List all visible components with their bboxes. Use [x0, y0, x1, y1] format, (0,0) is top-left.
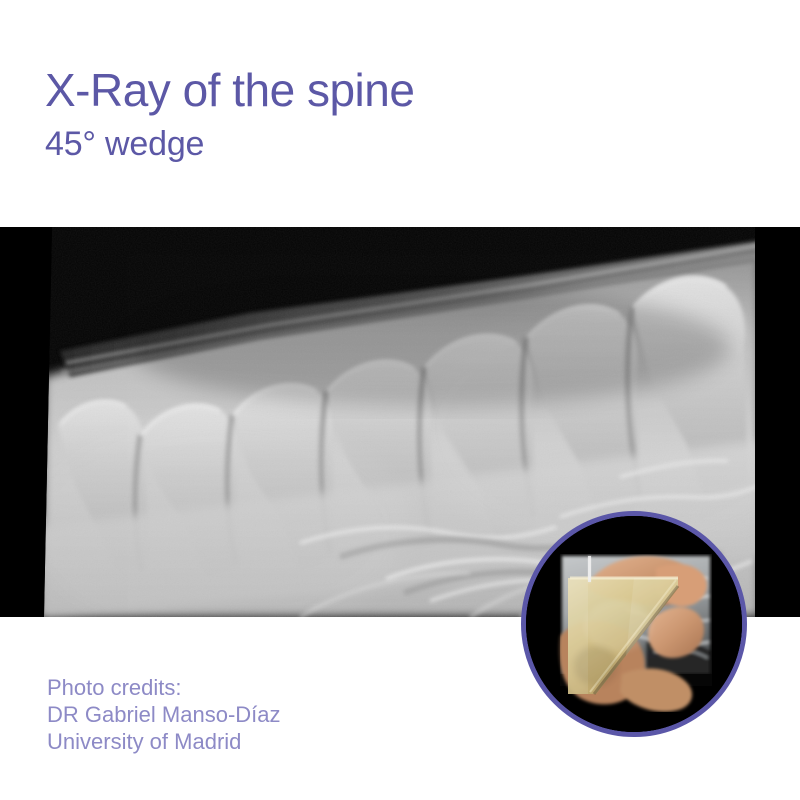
credits-line-3: University of Madrid	[47, 728, 281, 755]
slide-root: X-Ray of the spine 45° wedge	[0, 0, 800, 800]
photo-credits: Photo credits: DR Gabriel Manso-Díaz Uni…	[47, 674, 281, 755]
wedge-photo-image	[526, 516, 742, 732]
page-subtitle: 45° wedge	[45, 124, 204, 164]
credits-line-2: DR Gabriel Manso-Díaz	[47, 701, 281, 728]
wedge-photo-inset	[521, 511, 747, 737]
header: X-Ray of the spine 45° wedge	[0, 0, 800, 227]
credits-line-1: Photo credits:	[47, 674, 281, 701]
page-title: X-Ray of the spine	[45, 64, 414, 116]
